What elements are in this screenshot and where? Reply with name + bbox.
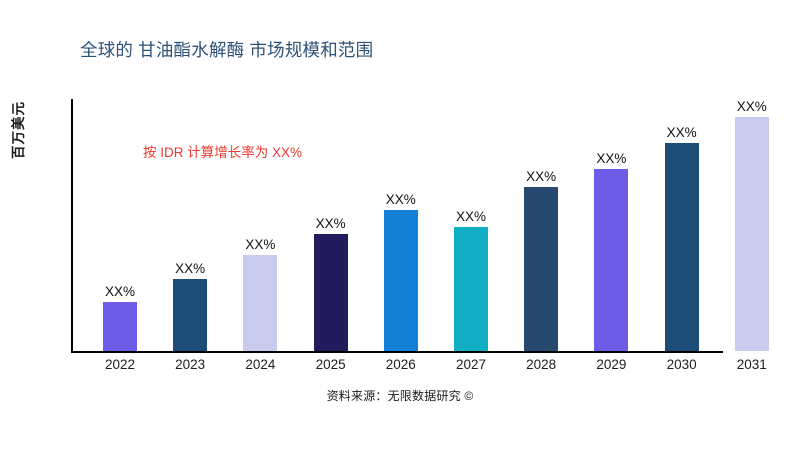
x-tick-label: 2023 [155, 357, 225, 372]
bar-value-label: XX% [722, 99, 782, 114]
x-tick-label: 2025 [296, 357, 366, 372]
bar-value-label: XX% [301, 216, 361, 231]
x-tick-label: 2026 [366, 357, 436, 372]
bar-group[interactable]: XX% [594, 145, 628, 353]
x-tick-label: 2022 [85, 357, 155, 372]
y-axis-line [71, 99, 73, 352]
x-tick-label: 2031 [717, 357, 787, 372]
x-tick-label: 2029 [576, 357, 646, 372]
x-tick-label: 2030 [647, 357, 717, 372]
chart-container: 全球的 甘油酯水解酶 市场规模和范围 百万美元 XX%XX%XX%XX%XX%X… [0, 0, 800, 450]
bar-value-label: XX% [441, 209, 501, 224]
bar-group[interactable]: XX% [454, 203, 488, 353]
bar-group[interactable]: XX% [384, 186, 418, 353]
bar[interactable] [735, 117, 769, 351]
bar-value-label: XX% [230, 237, 290, 252]
plot-area: XX%XX%XX%XX%XX%XX%XX%XX%XX%XX% [71, 99, 790, 353]
bar-value-label: XX% [90, 284, 150, 299]
bar[interactable] [454, 227, 488, 351]
bar[interactable] [173, 279, 207, 351]
bar[interactable] [384, 210, 418, 351]
bar[interactable] [524, 187, 558, 351]
bar-group[interactable]: XX% [173, 255, 207, 353]
bar-group[interactable]: XX% [665, 119, 699, 353]
bar-value-label: XX% [581, 151, 641, 166]
bar-group[interactable]: XX% [524, 163, 558, 353]
bar-value-label: XX% [160, 261, 220, 276]
page-title: 全球的 甘油酯水解酶 市场规模和范围 [80, 37, 373, 62]
x-tick-label: 2027 [436, 357, 506, 372]
bar[interactable] [594, 169, 628, 351]
bar-value-label: XX% [511, 169, 571, 184]
x-tick-label: 2028 [506, 357, 576, 372]
bar[interactable] [665, 143, 699, 351]
bar-value-label: XX% [652, 125, 712, 140]
bar[interactable] [103, 302, 137, 351]
bar-group[interactable]: XX% [735, 93, 769, 353]
source-note: 资料来源：无限数据研究 © [0, 387, 800, 404]
bar[interactable] [243, 255, 277, 351]
bar[interactable] [314, 234, 348, 351]
bar-group[interactable]: XX% [103, 278, 137, 353]
bar-value-label: XX% [371, 192, 431, 207]
bar-group[interactable]: XX% [243, 231, 277, 353]
bar-group[interactable]: XX% [314, 210, 348, 353]
y-axis-label: 百万美元 [7, 39, 29, 159]
growth-rate-annotation: 按 IDR 计算增长率为 XX% [143, 141, 302, 161]
x-tick-label: 2024 [225, 357, 295, 372]
